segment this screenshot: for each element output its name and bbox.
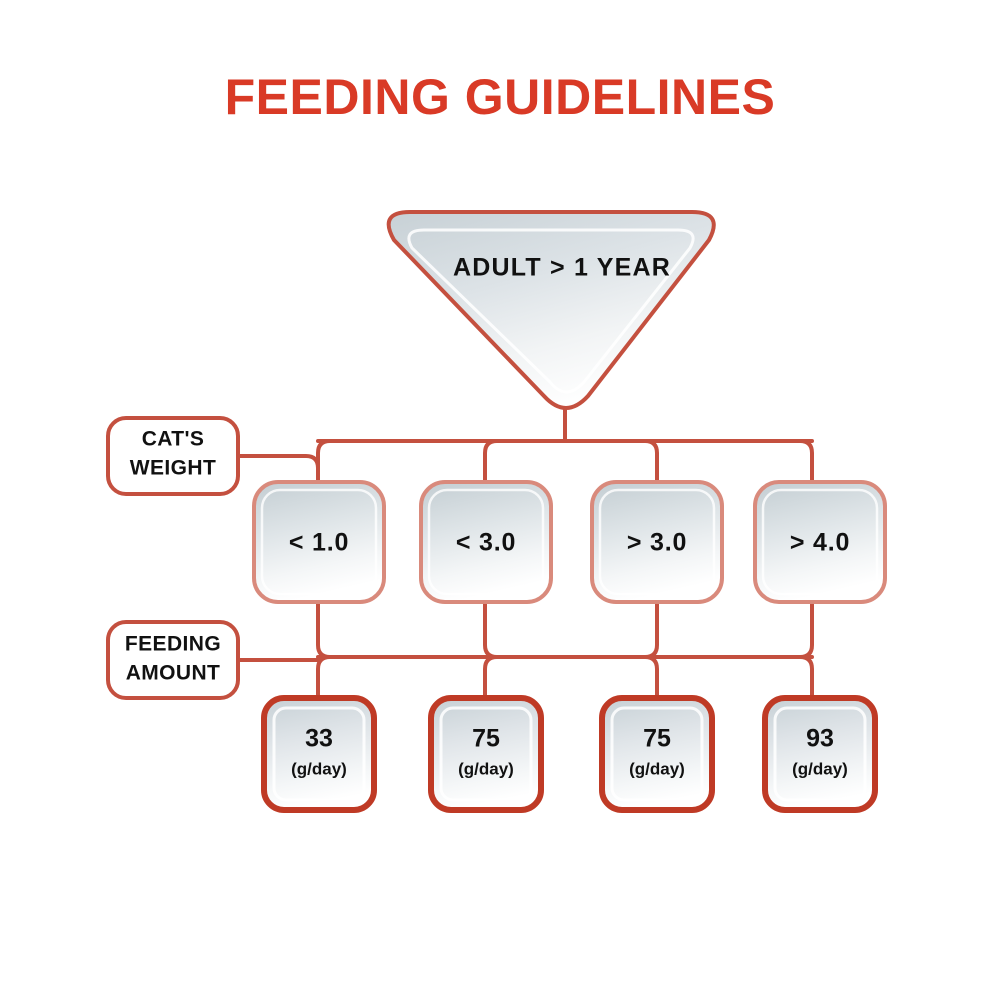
connector-amount-drop-3 xyxy=(800,657,812,697)
feeding-amount-label-line2: AMOUNT xyxy=(126,662,221,685)
amount-box-value: 75 xyxy=(643,725,671,753)
weight-box-3[interactable]: > 4.0 xyxy=(755,482,885,602)
amount-box-3[interactable]: 93 (g/day) xyxy=(765,698,875,810)
amount-box-0[interactable]: 33 (g/day) xyxy=(264,698,374,810)
amount-box-value: 75 xyxy=(472,725,500,753)
weight-box-0[interactable]: < 1.0 xyxy=(254,482,384,602)
amount-box-unit: (g/day) xyxy=(792,759,848,778)
amount-box-bg xyxy=(602,698,712,810)
connector-amount-drop-1 xyxy=(485,657,497,697)
triangle-outline xyxy=(389,212,714,408)
row-label-cats-weight[interactable]: CAT'S WEIGHT xyxy=(108,418,238,494)
weight-box-label: > 4.0 xyxy=(790,529,850,557)
amount-box-value: 93 xyxy=(806,725,834,753)
weight-box-label: > 3.0 xyxy=(627,529,687,557)
amount-box-value: 33 xyxy=(305,725,333,753)
amount-box-bg xyxy=(264,698,374,810)
connector-amount-riser-2 xyxy=(645,601,657,657)
connector-amount-drop-0 xyxy=(318,657,330,697)
connector-amount-riser-1 xyxy=(485,601,497,657)
connector-amount-riser-3 xyxy=(800,601,812,657)
weight-box-1[interactable]: < 3.0 xyxy=(421,482,551,602)
node-adult-triangle[interactable]: ADULT > 1 YEAR xyxy=(389,212,714,408)
weight-box-label: < 3.0 xyxy=(456,529,516,557)
cats-weight-label-line2: WEIGHT xyxy=(130,457,216,480)
feeding-guidelines-page: FEEDING GUIDELINES xyxy=(0,0,1000,1000)
weight-box-label: < 1.0 xyxy=(289,529,349,557)
connector-weight-drop-1 xyxy=(485,441,497,481)
amount-box-unit: (g/day) xyxy=(629,759,685,778)
amount-box-1[interactable]: 75 (g/day) xyxy=(431,698,541,810)
amount-box-bg xyxy=(765,698,875,810)
connector-weight-label-tie xyxy=(238,456,318,481)
row-label-feeding-amount[interactable]: FEEDING AMOUNT xyxy=(108,622,238,698)
cats-weight-label-line1: CAT'S xyxy=(142,428,205,451)
triangle-label: ADULT > 1 YEAR xyxy=(453,254,671,282)
amount-box-bg xyxy=(431,698,541,810)
weight-box-2[interactable]: > 3.0 xyxy=(592,482,722,602)
connector-weight-drop-2 xyxy=(645,441,657,481)
connector-weight-drop-3 xyxy=(800,441,812,481)
amount-box-unit: (g/day) xyxy=(291,759,347,778)
feeding-amount-label-line1: FEEDING xyxy=(125,633,221,656)
amount-box-2[interactable]: 75 (g/day) xyxy=(602,698,712,810)
amount-box-unit: (g/day) xyxy=(458,759,514,778)
feeding-guidelines-diagram: ADULT > 1 YEAR CAT'S WEIGHT FEEDING AMOU… xyxy=(0,0,1000,1000)
connector-amount-riser-0 xyxy=(318,601,330,657)
connector-amount-drop-2 xyxy=(645,657,657,697)
